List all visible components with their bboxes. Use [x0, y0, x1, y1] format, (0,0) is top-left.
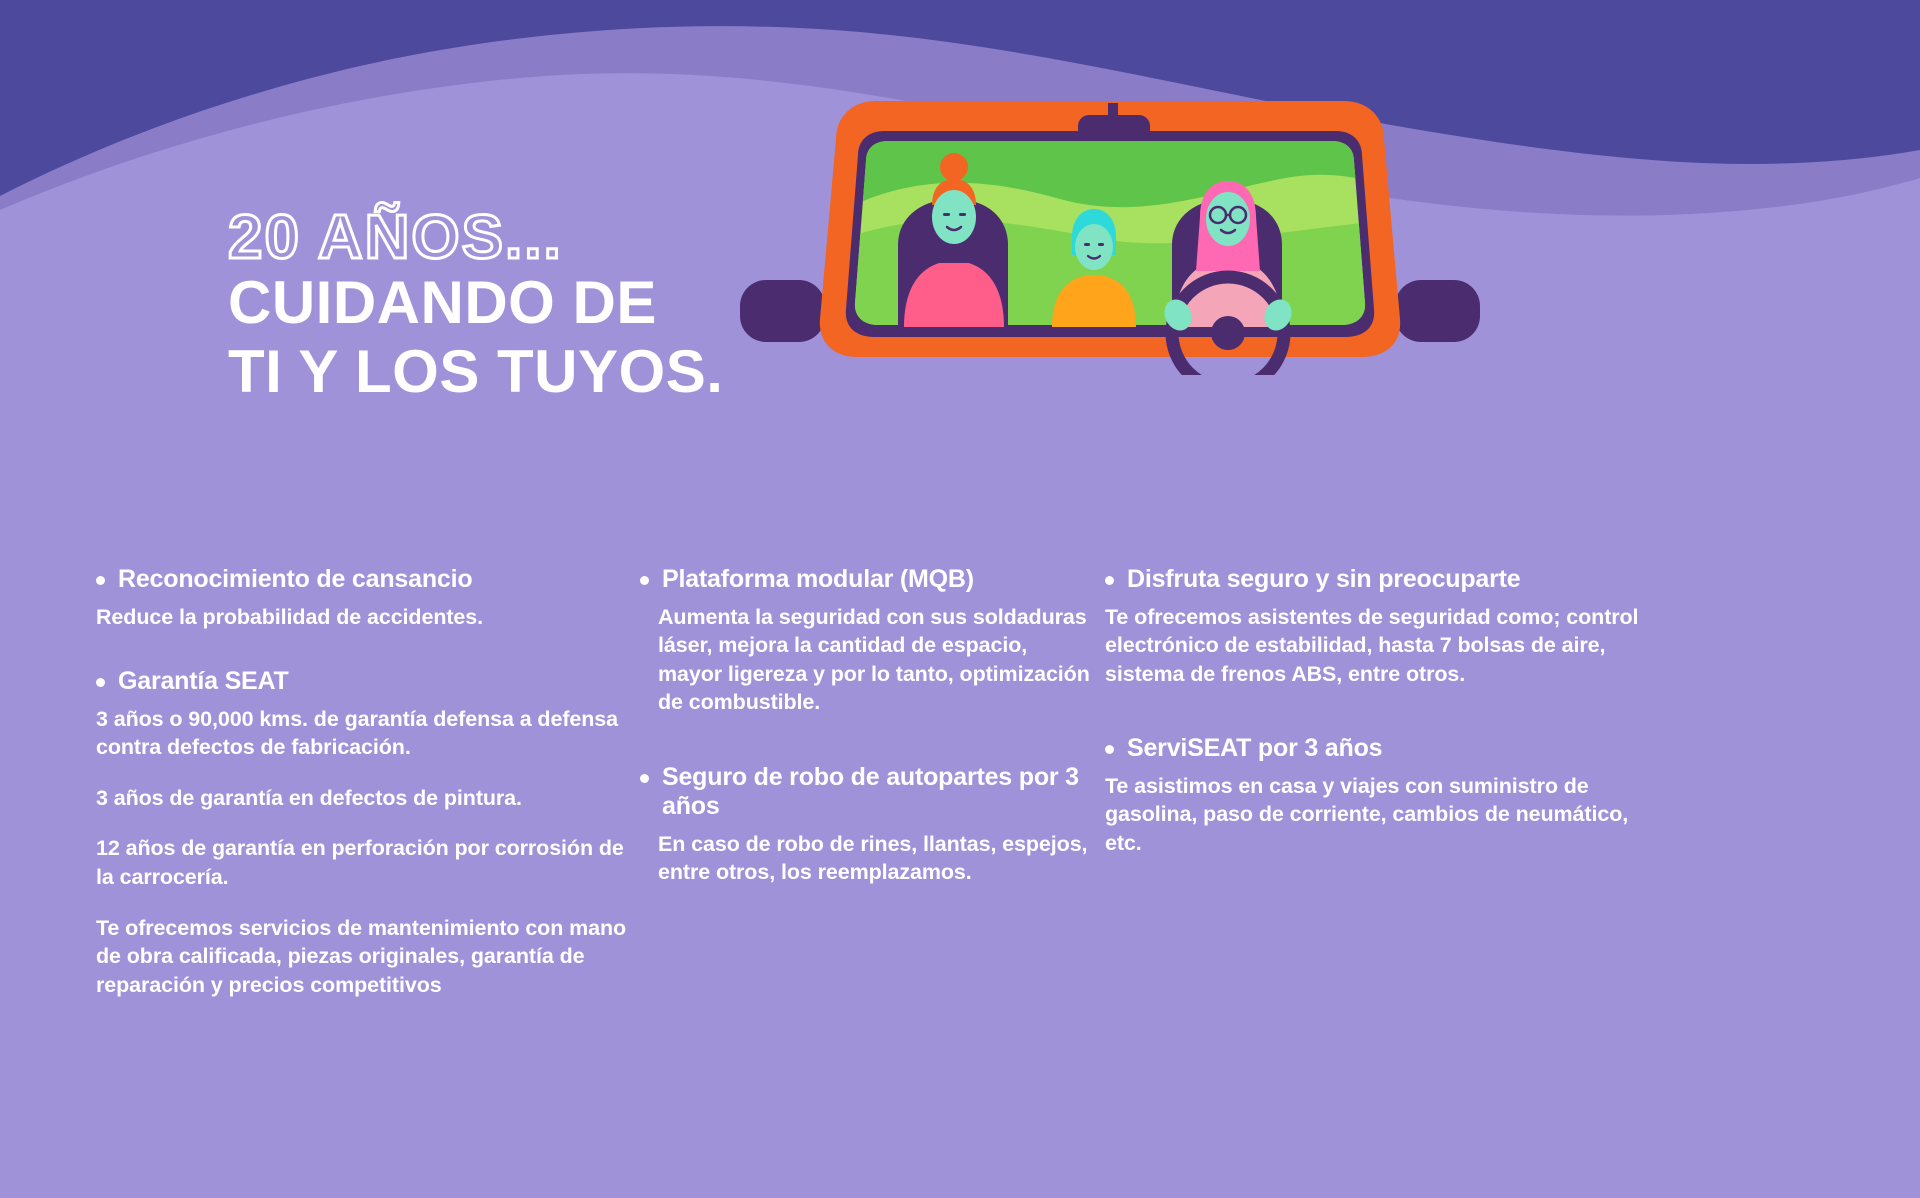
bullet-heading-label: Reconocimiento de cansancio — [118, 565, 630, 595]
passenger-left-bun — [940, 153, 968, 181]
bullet-dot-icon — [1105, 745, 1114, 754]
bullet-heading-label: Plataforma modular (MQB) — [662, 565, 1090, 595]
paragraph: Te asistimos en casa y viajes con sumini… — [1105, 772, 1650, 858]
bullet-dot-icon — [640, 576, 649, 585]
bullet-dot-icon — [96, 678, 105, 687]
paragraph: 3 años o 90,000 kms. de garantía defensa… — [96, 705, 630, 762]
bullet-heading: Reconocimiento de cansancio — [96, 565, 630, 595]
block-serviseat-por-3-anos: ServiSEAT por 3 años Te asistimos en cas… — [1105, 734, 1650, 857]
passenger-left-eye-right — [959, 213, 966, 216]
headline-line-1: 20 AÑOS... — [228, 206, 723, 269]
bullet-heading-label: Disfruta seguro y sin preocuparte — [1127, 565, 1650, 595]
block-reconocimiento-de-cansancio: Reconocimiento de cansancio Reduce la pr… — [96, 565, 630, 631]
passenger-middle-eye-left — [1084, 243, 1090, 246]
bullet-heading: ServiSEAT por 3 años — [1105, 734, 1650, 764]
bullet-dot-icon — [1105, 576, 1114, 585]
bullet-heading: Disfruta seguro y sin preocuparte — [1105, 565, 1650, 595]
content-columns: Reconocimiento de cansancio Reduce la pr… — [0, 565, 1920, 1198]
mirror-left — [740, 280, 825, 342]
driver-face — [1206, 192, 1250, 246]
bullet-heading: Plataforma modular (MQB) — [640, 565, 1090, 595]
headline-line-2: CUIDANDO DE — [228, 269, 723, 337]
bullet-dot-icon — [640, 774, 649, 783]
bullet-dot-icon — [96, 576, 105, 585]
bullet-heading-label: Seguro de robo de autopartes por 3 años — [662, 763, 1090, 822]
paragraph: 3 años de garantía en defectos de pintur… — [96, 784, 630, 813]
headline-line-3: TI Y LOS TUYOS. — [228, 338, 723, 406]
mirror-right — [1395, 280, 1480, 342]
block-plataforma-modular-mqb: Plataforma modular (MQB) Aumenta la segu… — [640, 565, 1090, 717]
paragraph: Reduce la probabilidad de accidentes. — [96, 603, 630, 632]
column-1: Reconocimiento de cansancio Reduce la pr… — [0, 565, 630, 1198]
bullet-heading: Garantía SEAT — [96, 667, 630, 697]
block-disfruta-seguro-y-sin-preocuparte: Disfruta seguro y sin preocuparte Te ofr… — [1105, 565, 1650, 688]
rear-view-mirror-stem — [1108, 103, 1118, 121]
car-windshield-family-illustration — [740, 95, 1480, 375]
spacer — [640, 743, 1090, 763]
passenger-middle-face — [1075, 224, 1113, 270]
headline-group: 20 AÑOS... CUIDANDO DE TI Y LOS TUYOS. — [228, 206, 723, 406]
spacer — [1105, 714, 1650, 734]
bullet-heading-label: Garantía SEAT — [118, 667, 630, 697]
steering-wheel-hub — [1211, 316, 1245, 350]
infographic-canvas: 20 AÑOS... CUIDANDO DE TI Y LOS TUYOS. — [0, 0, 1920, 1198]
paragraph: Aumenta la seguridad con sus soldaduras … — [640, 603, 1090, 717]
passenger-left-face — [932, 190, 976, 244]
bullet-heading: Seguro de robo de autopartes por 3 años — [640, 763, 1090, 822]
paragraph: 12 años de garantía en perforación por c… — [96, 834, 630, 891]
paragraph: Te ofrecemos servicios de mantenimiento … — [96, 914, 630, 1000]
block-seguro-de-robo-de-autopartes: Seguro de robo de autopartes por 3 años … — [640, 763, 1090, 887]
block-garantia-seat: Garantía SEAT 3 años o 90,000 kms. de ga… — [96, 667, 630, 999]
spacer — [96, 657, 630, 667]
column-3: Disfruta seguro y sin preocuparte Te ofr… — [1090, 565, 1650, 1198]
passenger-middle-eye-right — [1098, 243, 1104, 246]
bullet-heading-label: ServiSEAT por 3 años — [1127, 734, 1650, 764]
paragraph: En caso de robo de rines, llantas, espej… — [640, 830, 1090, 887]
passenger-left-eye-left — [943, 213, 950, 216]
column-2: Plataforma modular (MQB) Aumenta la segu… — [630, 565, 1090, 1198]
paragraph: Te ofrecemos asistentes de seguridad com… — [1105, 603, 1650, 689]
